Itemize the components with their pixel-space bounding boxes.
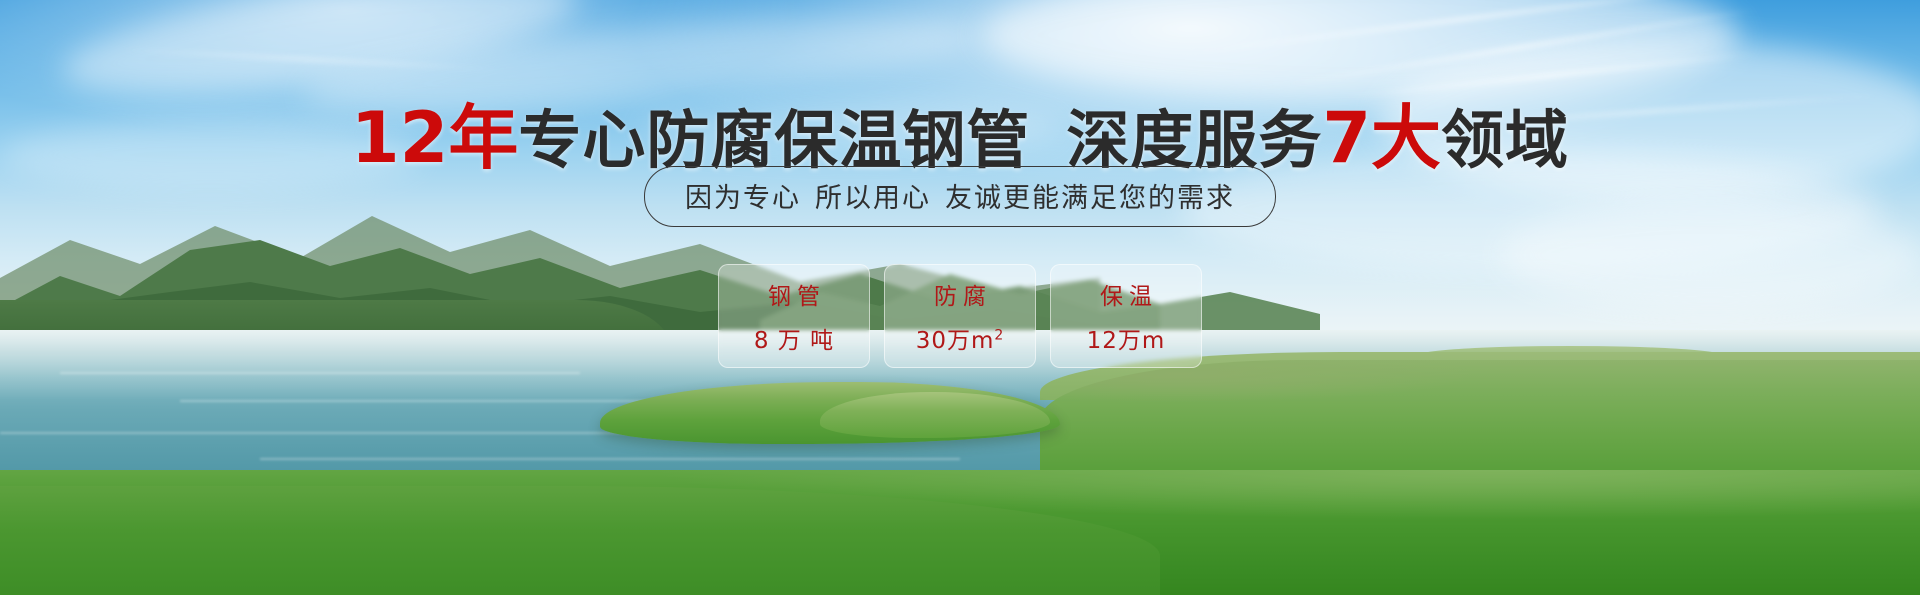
stat-card-anticorrosion: 防腐 30万m2 bbox=[884, 264, 1036, 368]
stat-card-value-superscript: 2 bbox=[994, 327, 1004, 343]
stat-card-steel-pipe: 钢管 8 万 吨 bbox=[718, 264, 870, 368]
stat-card-value-text: 8 万 吨 bbox=[754, 328, 834, 354]
stat-card-title: 保温 bbox=[1094, 277, 1158, 311]
stat-card-value-text: 12万m bbox=[1087, 328, 1166, 354]
banner-subtitle-pill: 因为专心所以用心友诚更能满足您的需求 bbox=[644, 166, 1276, 227]
stat-card-insulation: 保温 12万m bbox=[1050, 264, 1202, 368]
banner-content: 12年专心防腐保温钢管深度服务7大领域 因为专心所以用心友诚更能满足您的需求 钢… bbox=[0, 0, 1920, 595]
subtitle-segment-1: 因为专心 bbox=[685, 183, 801, 214]
subtitle-segment-2: 所以用心 bbox=[815, 183, 931, 214]
stat-card-group: 钢管 8 万 吨 防腐 30万m2 保温 12万m bbox=[0, 264, 1920, 368]
stat-card-value: 8 万 吨 bbox=[754, 321, 834, 355]
stat-card-value: 12万m bbox=[1087, 321, 1166, 355]
hero-banner: 12年专心防腐保温钢管深度服务7大领域 因为专心所以用心友诚更能满足您的需求 钢… bbox=[0, 0, 1920, 595]
banner-subtitle-wrapper: 因为专心所以用心友诚更能满足您的需求 bbox=[0, 166, 1920, 227]
subtitle-segment-3: 友诚更能满足您的需求 bbox=[945, 183, 1235, 214]
stat-card-title: 防腐 bbox=[928, 277, 992, 311]
stat-card-value-text: 30万m bbox=[916, 328, 995, 354]
stat-card-value: 30万m2 bbox=[916, 321, 1005, 355]
stat-card-title: 钢管 bbox=[762, 277, 826, 311]
